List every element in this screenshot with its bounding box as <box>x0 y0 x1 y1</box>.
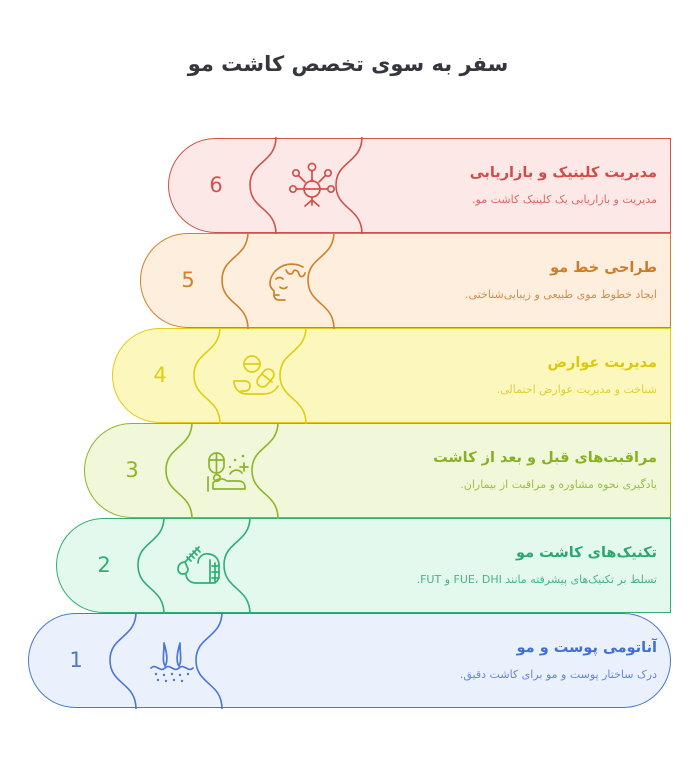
step-number: 5 <box>181 270 194 291</box>
step-2[interactable]: 2تکنیک‌های کاشت موتسلط بر تکنیک‌های پیشر… <box>56 518 671 613</box>
step-number: 2 <box>97 555 110 576</box>
step-number: 1 <box>69 650 82 671</box>
hand-holding-punch-tool-icon <box>152 518 248 613</box>
step-number: 3 <box>125 460 138 481</box>
patient-care-icon <box>180 423 276 518</box>
step-number-badge: 6 <box>168 138 264 233</box>
step-description: شناخت و مدیریت عوارض احتمالی. <box>308 383 657 398</box>
step-text: مدیریت کلینیک و بازاریابیمدیریت و بازاری… <box>364 138 671 233</box>
step-text: طراحی خط موایجاد خطوط موی طبیعی و زیبایی… <box>336 233 671 328</box>
step-title: طراحی خط مو <box>336 259 657 277</box>
step-description: ایجاد خطوط موی طبیعی و زیبایی‌شناختی. <box>336 288 657 303</box>
page-title: سفر به سوی تخصص کاشت مو <box>0 52 696 76</box>
step-number-badge: 2 <box>56 518 152 613</box>
step-6[interactable]: 6مدیریت کلینیک و بازاریابیمدیریت و بازار… <box>168 138 671 233</box>
step-number: 4 <box>153 365 166 386</box>
step-description: تسلط بر تکنیک‌های پیشرفته مانند FUE، DHI… <box>252 573 657 588</box>
step-text: آناتومی پوست و مودرک ساختار پوست و مو بر… <box>224 613 671 708</box>
step-title: مدیریت کلینیک و بازاریابی <box>364 164 657 182</box>
step-title: مدیریت عوارض <box>308 354 657 372</box>
step-title: تکنیک‌های کاشت مو <box>252 544 657 562</box>
face-profile-hairline-icon <box>236 233 332 328</box>
step-1[interactable]: 1آناتومی پوست و مودرک ساختار پوست و مو ب… <box>28 613 671 708</box>
step-description: درک ساختار پوست و مو برای کاشت دقیق. <box>224 668 657 683</box>
step-number-badge: 4 <box>112 328 208 423</box>
hair-follicle-skin-icon <box>124 613 220 708</box>
step-number-badge: 5 <box>140 233 236 328</box>
step-4[interactable]: 4مدیریت عوارضشناخت و مدیریت عوارض احتمال… <box>112 328 671 423</box>
step-title: مراقبت‌های قبل و بعد از کاشت <box>280 449 657 467</box>
step-text: مدیریت عوارضشناخت و مدیریت عوارض احتمالی… <box>308 328 671 423</box>
step-5[interactable]: 5طراحی خط موایجاد خطوط موی طبیعی و زیبای… <box>140 233 671 328</box>
step-text: تکنیک‌های کاشت موتسلط بر تکنیک‌های پیشرف… <box>252 518 671 613</box>
step-3[interactable]: 3مراقبت‌های قبل و بعد از کاشتیادگیری نحو… <box>84 423 671 518</box>
step-title: آناتومی پوست و مو <box>224 639 657 657</box>
step-number-badge: 3 <box>84 423 180 518</box>
hand-holding-pills-icon <box>208 328 304 423</box>
step-number-badge: 1 <box>28 613 124 708</box>
step-text: مراقبت‌های قبل و بعد از کاشتیادگیری نحوه… <box>280 423 671 518</box>
step-number: 6 <box>209 175 222 196</box>
staircase-diagram: 1آناتومی پوست و مودرک ساختار پوست و مو ب… <box>0 138 696 728</box>
person-network-nodes-icon <box>264 138 360 233</box>
step-description: یادگیری نحوه مشاوره و مراقبت از بیماران. <box>280 478 657 493</box>
step-description: مدیریت و بازاریابی یک کلینیک کاشت مو. <box>364 193 657 208</box>
